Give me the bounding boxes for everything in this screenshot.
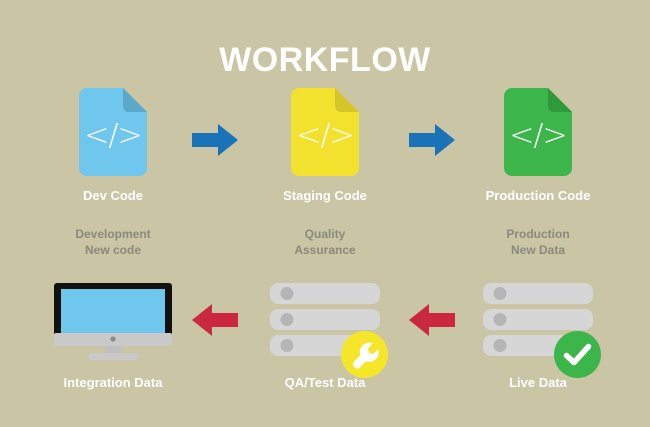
code-glyph: </> — [504, 88, 572, 176]
node-sub-staging-code-line1: Quality — [225, 226, 425, 242]
node-sub-production-code-line1: Production — [438, 226, 638, 242]
node-dev-code[interactable]: </> Dev Code Development New code — [13, 88, 213, 258]
node-sub-dev-code-line2: New code — [13, 242, 213, 258]
code-document-icon: </> — [291, 88, 359, 176]
node-qa-test-data[interactable]: QA/Test Data — [225, 283, 425, 391]
node-live-data[interactable]: Live Data — [438, 283, 638, 391]
node-staging-code[interactable]: </> Staging Code Quality Assurance — [225, 88, 425, 258]
desktop-monitor-shape — [50, 283, 176, 361]
node-sub-staging-code-line2: Assurance — [225, 242, 425, 258]
node-production-code[interactable]: </> Production Code Production New Data — [438, 88, 638, 258]
code-glyph: </> — [291, 88, 359, 176]
check-badge-icon — [554, 331, 601, 378]
node-label-dev-code: Dev Code — [13, 188, 213, 204]
workflow-diagram: WORKFLOW </> Dev Code Development New co… — [0, 0, 650, 427]
node-label-integration-data: Integration Data — [13, 375, 213, 391]
code-document-icon: </> — [504, 88, 572, 176]
node-label-production-code: Production Code — [438, 188, 638, 204]
node-label-qa-test-data: QA/Test Data — [225, 375, 425, 391]
desktop-monitor-icon — [50, 283, 176, 361]
node-sub-production-code-line2: New Data — [438, 242, 638, 258]
server-stack-icon — [475, 283, 601, 361]
wrench-badge-icon — [341, 331, 388, 378]
node-label-staging-code: Staging Code — [225, 188, 425, 204]
node-integration-data[interactable]: Integration Data — [13, 283, 213, 391]
node-sub-dev-code-line1: Development — [13, 226, 213, 242]
node-label-live-data: Live Data — [438, 375, 638, 391]
page-title: WORKFLOW — [0, 40, 650, 80]
server-stack-icon — [262, 283, 388, 361]
code-document-icon: </> — [79, 88, 147, 176]
code-glyph: </> — [79, 88, 147, 176]
